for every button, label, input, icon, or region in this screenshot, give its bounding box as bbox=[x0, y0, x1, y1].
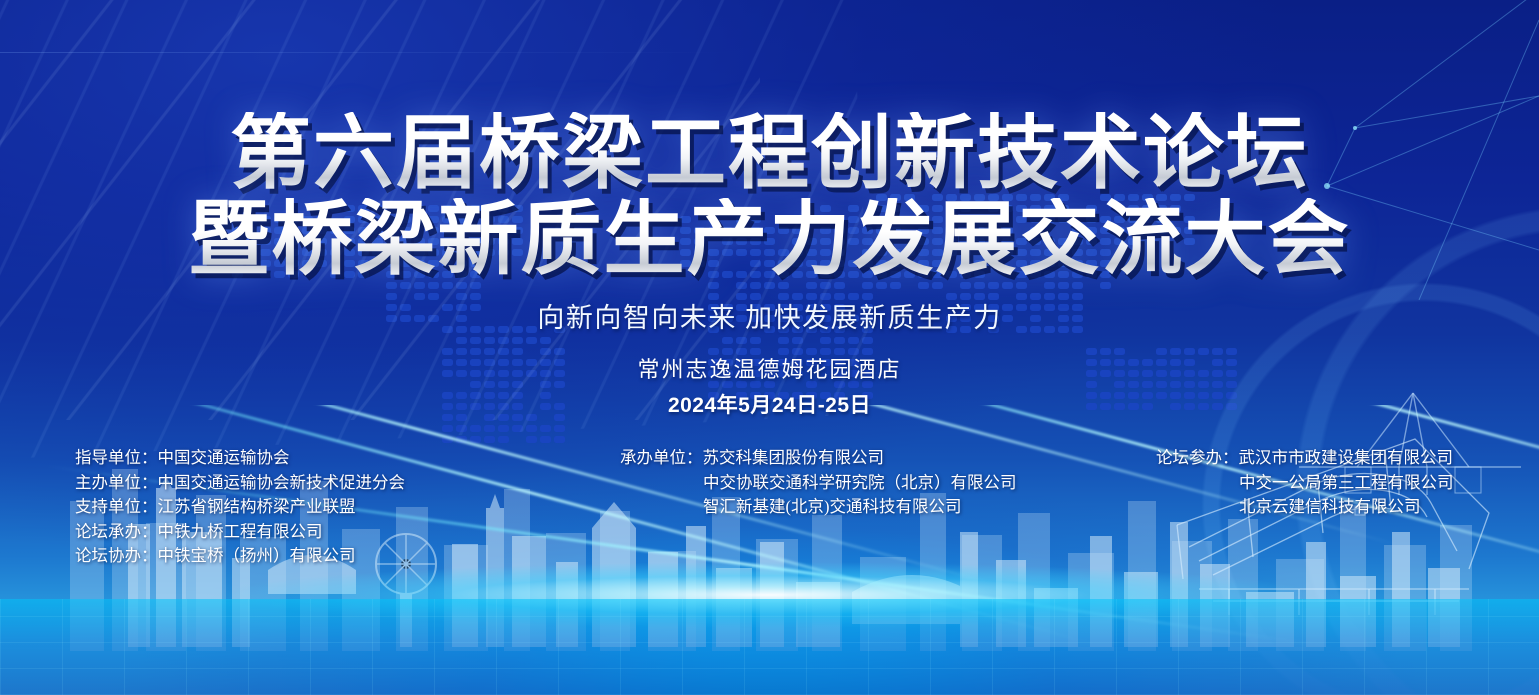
organization-value: 中国交通运输协会 bbox=[158, 448, 290, 467]
venue-date: 2024年5月24日-25日 bbox=[0, 389, 1539, 419]
venue-name: 常州志逸温德姆花园酒店 bbox=[0, 352, 1539, 384]
organization-row: 指导单位：中国交通运输协会 bbox=[75, 446, 405, 471]
organization-label: 主办单位： bbox=[75, 471, 158, 496]
organization-value: 中交协联交通科学研究院（北京）有限公司 bbox=[703, 473, 1017, 492]
organization-label: 论坛承办： bbox=[75, 520, 158, 545]
organization-row: 论坛参办：武汉市市政建设集团有限公司 bbox=[1156, 446, 1454, 471]
organization-value: 智汇新基建(北京)交通科技有限公司 bbox=[703, 497, 962, 516]
organizations-left-column: 指导单位：中国交通运输协会主办单位：中国交通运输协会新技术促进分会支持单位：江苏… bbox=[75, 446, 405, 569]
organization-label: 支持单位： bbox=[75, 495, 158, 520]
organization-row: 智汇新基建(北京)交通科技有限公司 bbox=[620, 495, 1017, 520]
organization-row: 承办单位：苏交科集团股份有限公司 bbox=[620, 446, 1017, 471]
venue-block: 常州志逸温德姆花园酒店 2024年5月24日-25日 bbox=[0, 352, 1539, 419]
organization-label: 论坛参办： bbox=[1156, 446, 1239, 471]
organization-value: 中国交通运输协会新技术促进分会 bbox=[158, 473, 406, 492]
organization-row: 论坛承办：中铁九桥工程有限公司 bbox=[75, 520, 405, 545]
organization-row: 中交协联交通科学研究院（北京）有限公司 bbox=[620, 471, 1017, 496]
conference-banner: 第六届桥梁工程创新技术论坛 暨桥梁新质生产力发展交流大会 向新向智向未来 加快发… bbox=[0, 0, 1539, 695]
organization-value: 中交一公局第三工程有限公司 bbox=[1239, 473, 1454, 492]
organization-row: 主办单位：中国交通运输协会新技术促进分会 bbox=[75, 471, 405, 496]
organization-row: 支持单位：江苏省钢结构桥梁产业联盟 bbox=[75, 495, 405, 520]
organization-label: 承办单位： bbox=[620, 446, 703, 471]
organization-value: 中铁宝桥（扬州）有限公司 bbox=[158, 546, 356, 565]
organization-value: 江苏省钢结构桥梁产业联盟 bbox=[158, 497, 356, 516]
organization-value: 苏交科集团股份有限公司 bbox=[703, 448, 885, 467]
organization-label: 指导单位： bbox=[75, 446, 158, 471]
organization-row: 中交一公局第三工程有限公司 bbox=[1156, 471, 1454, 496]
organization-row: 北京云建信科技有限公司 bbox=[1156, 495, 1454, 520]
organization-value: 北京云建信科技有限公司 bbox=[1239, 497, 1421, 516]
title-line-1: 第六届桥梁工程创新技术论坛 bbox=[0, 112, 1539, 196]
title-block: 第六届桥梁工程创新技术论坛 暨桥梁新质生产力发展交流大会 bbox=[0, 112, 1539, 282]
title-line-2: 暨桥梁新质生产力发展交流大会 bbox=[0, 198, 1539, 282]
organization-value: 武汉市市政建设集团有限公司 bbox=[1239, 448, 1454, 467]
organizations-center-column: 承办单位：苏交科集团股份有限公司中交协联交通科学研究院（北京）有限公司智汇新基建… bbox=[620, 446, 1017, 520]
organization-value: 中铁九桥工程有限公司 bbox=[158, 522, 323, 541]
slogan: 向新向智向未来 加快发展新质生产力 bbox=[0, 296, 1539, 335]
organization-label: 论坛协办： bbox=[75, 544, 158, 569]
organization-row: 论坛协办：中铁宝桥（扬州）有限公司 bbox=[75, 544, 405, 569]
organizations-right-column: 论坛参办：武汉市市政建设集团有限公司中交一公局第三工程有限公司北京云建信科技有限… bbox=[1156, 446, 1454, 520]
